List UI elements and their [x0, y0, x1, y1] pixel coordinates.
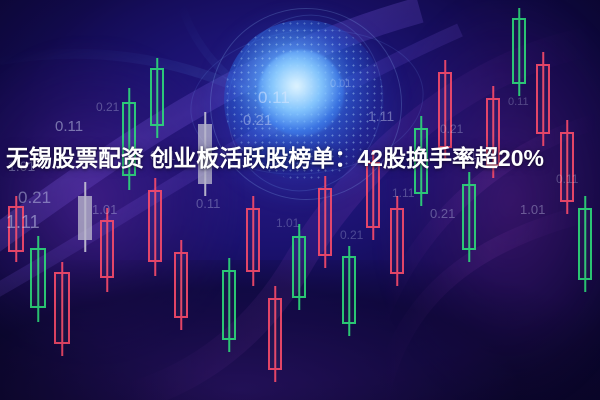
stock-news-banner-image: 0.111.010.211.110.210.110.211.110.010.21…	[0, 0, 600, 400]
headline-text: 无锡股票配资 创业板活跃股榜单：42股换手率超20%	[0, 138, 600, 178]
candlestick	[150, 58, 164, 138]
candlestick-body	[438, 72, 452, 148]
candlestick-body	[268, 298, 282, 370]
candlestick-body	[30, 248, 46, 308]
candlestick-body	[148, 190, 162, 262]
candlestick-body	[536, 64, 550, 134]
candlestick	[268, 286, 282, 382]
candlestick	[78, 182, 92, 252]
candlestick-body	[54, 272, 70, 344]
candlestick	[174, 240, 188, 330]
candlestick-body	[578, 208, 592, 280]
candlestick-chart	[0, 0, 600, 400]
candlestick	[292, 224, 306, 310]
candlestick-body	[462, 184, 476, 250]
candlestick	[100, 208, 114, 292]
candlestick	[390, 196, 404, 286]
candlestick	[342, 246, 356, 336]
candlestick	[512, 8, 526, 96]
candlestick-body	[390, 208, 404, 274]
candlestick	[148, 178, 162, 276]
candlestick	[54, 262, 70, 356]
candlestick-body	[246, 208, 260, 272]
candlestick-body	[150, 68, 164, 126]
candlestick-body	[78, 196, 92, 240]
candlestick-body	[100, 220, 114, 278]
candlestick-body	[222, 270, 236, 340]
candlestick	[578, 196, 592, 292]
candlestick-body	[342, 256, 356, 324]
candlestick-body	[292, 236, 306, 298]
candlestick	[8, 196, 24, 262]
candlestick	[462, 172, 476, 262]
candlestick	[536, 52, 550, 146]
candlestick-body	[512, 18, 526, 84]
candlestick	[318, 176, 332, 268]
candlestick	[246, 196, 260, 286]
candlestick-body	[174, 252, 188, 318]
candlestick	[222, 258, 236, 352]
candlestick	[30, 236, 46, 322]
candlestick-body	[8, 206, 24, 252]
candlestick-body	[318, 188, 332, 256]
